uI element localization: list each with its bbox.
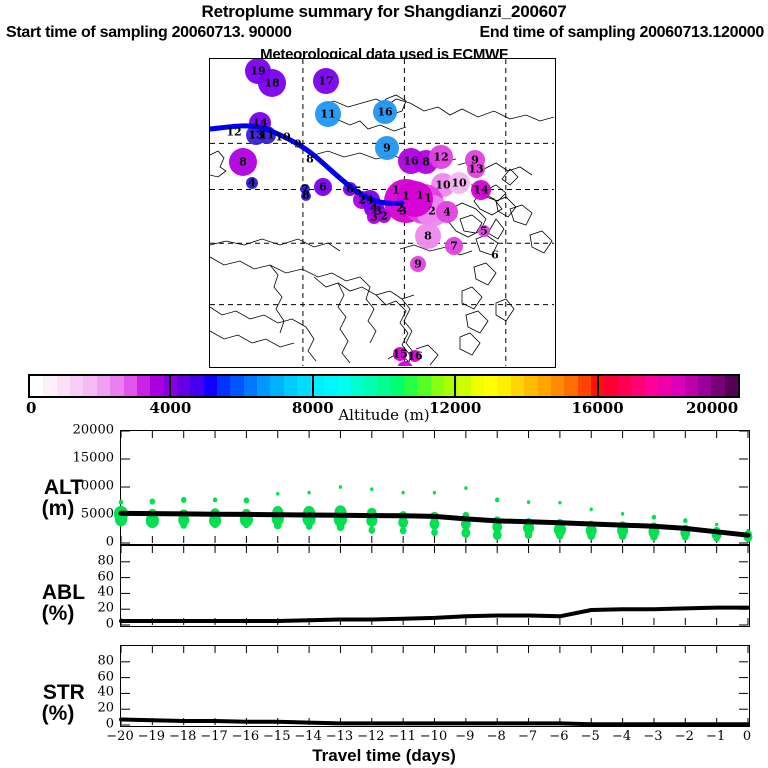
end-time-label: End time of sampling 20060713.120000 <box>480 24 764 42</box>
colorbar-segment <box>351 376 364 396</box>
alt-particle <box>337 522 345 531</box>
alt-particle <box>587 531 595 540</box>
coastline-path <box>336 119 406 131</box>
colorbar-segment <box>297 376 310 396</box>
map-altitude-bubble <box>301 191 311 201</box>
y-axis-tick-label: 20 <box>58 701 114 716</box>
coastline-path <box>210 151 226 177</box>
coastline-path <box>466 311 488 333</box>
alt-particle <box>652 515 656 520</box>
colorbar-segment <box>30 376 43 396</box>
colorbar-divider <box>312 374 314 398</box>
alt-particle <box>715 523 718 527</box>
y-axis-tick-label: 60 <box>58 669 114 684</box>
coastline-path <box>510 205 532 225</box>
map-altitude-bubble <box>397 361 413 366</box>
map-altitude-bubble <box>375 136 399 160</box>
alt-particle <box>181 497 187 503</box>
x-axis-tick-label: −13 <box>326 729 353 744</box>
map-altitude-bubble <box>246 177 258 189</box>
alt-particle <box>556 531 564 540</box>
colorbar-segment <box>671 376 684 396</box>
colorbar-segment <box>150 376 163 396</box>
x-axis-tick-label: −4 <box>612 729 631 744</box>
alt-particle <box>180 521 187 528</box>
colorbar-segment <box>364 376 377 396</box>
coastline-path <box>474 263 496 285</box>
colorbar-segment <box>645 376 658 396</box>
colorbar-divider <box>454 374 456 398</box>
alt-particle <box>276 492 279 496</box>
colorbar-segment <box>284 376 297 396</box>
x-axis-tick-label: −5 <box>581 729 600 744</box>
coastline-path <box>210 331 294 347</box>
panel-abl[interactable] <box>120 545 750 627</box>
coastline-path <box>502 169 518 185</box>
alt-particle <box>525 530 533 539</box>
panel-str[interactable] <box>120 645 750 727</box>
x-axis-tick-label: −6 <box>549 729 568 744</box>
coastline-path <box>530 231 552 253</box>
coastline-path <box>322 99 554 121</box>
start-time-label: Start time of sampling 20060713. 90000 <box>6 24 292 42</box>
colorbar-segment <box>43 376 56 396</box>
x-axis-tick-label: −18 <box>169 729 196 744</box>
y-axis-tick-label: 80 <box>58 553 114 568</box>
alt-particle <box>402 491 405 495</box>
map-altitude-bubble <box>315 101 341 127</box>
alt-particle <box>150 498 156 504</box>
y-axis-tick-label: 20 <box>58 601 114 616</box>
alt-particle <box>339 485 342 489</box>
colorbar-segment <box>337 376 350 396</box>
x-axis-tick-label: −1 <box>706 729 725 744</box>
colorbar-segment <box>190 376 203 396</box>
alt-particle <box>370 487 373 491</box>
x-axis-tick-label: −7 <box>518 729 537 744</box>
colorbar-segment <box>458 376 471 396</box>
x-axis-title: Travel time (days) <box>0 746 768 766</box>
coastline-path <box>476 235 498 255</box>
coastline-path <box>462 287 482 309</box>
alt-particle <box>431 529 438 536</box>
alt-particle <box>306 522 313 529</box>
colorbar-segment <box>498 376 511 396</box>
colorbar-segment <box>711 376 724 396</box>
colorbar-segment <box>564 376 577 396</box>
x-axis-tick-label: −15 <box>263 729 290 744</box>
map-altitude-bubble <box>314 178 332 196</box>
alt-particle <box>621 512 624 516</box>
colorbar-segment <box>725 376 738 396</box>
y-axis-tick-label: 40 <box>58 585 114 600</box>
colorbar-segment <box>631 376 644 396</box>
coastline-path <box>460 333 480 355</box>
colorbar-segment <box>110 376 123 396</box>
colorbar-segment <box>511 376 524 396</box>
colorbar-segment <box>324 376 337 396</box>
alt-particle <box>212 521 219 528</box>
map-altitude-bubble <box>313 68 339 94</box>
x-axis-tick-label: −19 <box>138 729 165 744</box>
x-axis-tick-label: −17 <box>200 729 227 744</box>
alt-particle <box>558 501 561 505</box>
coastline-path <box>210 257 360 281</box>
coastline-path <box>314 277 414 299</box>
coastline-path <box>210 307 306 327</box>
colorbar-segment <box>685 376 698 396</box>
y-axis-tick-label: 15000 <box>58 451 114 466</box>
x-axis-tick-label: −10 <box>420 729 447 744</box>
colorbar-segment <box>124 376 137 396</box>
alt-particle <box>464 486 467 490</box>
coastline-path <box>496 299 514 321</box>
alt-plot-canvas <box>121 431 748 543</box>
coastline-path <box>306 327 316 361</box>
colorbar-segment <box>578 376 591 396</box>
map-altitude-bubble <box>467 160 485 178</box>
alt-particle <box>619 531 627 540</box>
map-altitude-bubble <box>373 100 397 124</box>
alt-particle <box>369 526 376 533</box>
colorbar-segment <box>618 376 631 396</box>
alt-particle <box>461 528 470 538</box>
colorbar-segment <box>177 376 190 396</box>
y-axis-tick-label: 40 <box>58 685 114 700</box>
colorbar-divider <box>169 374 171 398</box>
x-axis-tick-label: −16 <box>232 729 259 744</box>
alt-particle <box>683 518 687 523</box>
colorbar-segment <box>257 376 270 396</box>
alt-particle <box>430 518 440 529</box>
y-axis-tick-label: 10000 <box>58 479 114 494</box>
map-altitude-bubble <box>229 148 257 176</box>
map-bubble-layer <box>229 59 491 366</box>
colorbar-axis-title: Altitude (m) <box>0 406 768 424</box>
colorbar-segment <box>484 376 497 396</box>
alt-particle <box>274 521 282 530</box>
colorbar-segment <box>377 376 390 396</box>
y-axis-tick-label: 5000 <box>58 507 114 522</box>
colorbar-segment <box>97 376 110 396</box>
x-axis-tick-label: −3 <box>643 729 662 744</box>
x-axis-tick-label: −12 <box>357 729 384 744</box>
alt-particle <box>149 520 157 529</box>
y-axis-tick-label: 0 <box>58 617 114 632</box>
coastline-path <box>488 219 504 239</box>
map-altitude-bubble <box>445 237 463 255</box>
map-altitude-bubble <box>410 256 426 272</box>
alt-particle <box>682 533 689 540</box>
coastline-path <box>338 283 350 363</box>
x-axis-tick-label: −2 <box>675 729 694 744</box>
alt-particle <box>650 532 658 541</box>
alt-particle <box>243 521 250 528</box>
alt-particle <box>400 527 407 534</box>
map-canvas <box>210 59 554 366</box>
x-axis-tick-label: −9 <box>455 729 474 744</box>
colorbar-segment <box>70 376 83 396</box>
abl-plot-canvas <box>121 546 748 625</box>
colorbar-segment <box>270 376 283 396</box>
y-axis-tick-label: 20000 <box>58 423 114 438</box>
alt-particle <box>307 491 310 495</box>
colorbar-segment <box>604 376 617 396</box>
alt-particle <box>119 500 123 505</box>
alt-particle <box>527 500 530 504</box>
x-axis-tick-label: −20 <box>106 729 133 744</box>
colorbar-segment <box>57 376 70 396</box>
x-axis-tick-label: −8 <box>487 729 506 744</box>
colorbar-segment <box>524 376 537 396</box>
alt-particle <box>213 497 217 502</box>
altitude-colorbar[interactable] <box>28 374 740 398</box>
alt-particle <box>118 519 125 526</box>
coastline-path <box>210 239 340 251</box>
colorbar-segment <box>471 376 484 396</box>
colorbar-segment <box>551 376 564 396</box>
alt-particle <box>713 534 720 541</box>
x-axis-tick-label: −11 <box>388 729 415 744</box>
map-altitude-bubble <box>471 180 491 200</box>
map-altitude-bubble <box>448 172 470 194</box>
x-axis-tick-label: 0 <box>743 729 751 744</box>
alt-particle <box>244 497 250 503</box>
map-altitude-bubble <box>478 225 490 237</box>
map-altitude-bubble <box>397 181 433 217</box>
map-altitude-bubble <box>409 350 421 362</box>
colorbar-segment <box>538 376 551 396</box>
retroplume-map[interactable]: 1918171116914121311109884678168129131410… <box>209 58 556 368</box>
colorbar-divider <box>597 374 599 398</box>
colorbar-segment <box>391 376 404 396</box>
map-altitude-bubble <box>415 223 441 249</box>
map-altitude-bubble <box>429 145 453 169</box>
map-altitude-bubble <box>393 347 407 361</box>
str-plot-canvas <box>121 646 748 725</box>
map-altitude-bubble <box>258 69 286 97</box>
colorbar-segment <box>83 376 96 396</box>
alt-particle <box>433 491 436 495</box>
colorbar-segment <box>658 376 671 396</box>
colorbar-segment <box>217 376 230 396</box>
alt-particle <box>495 497 499 502</box>
alt-particle <box>590 508 593 512</box>
colorbar-segment <box>137 376 150 396</box>
x-axis-tick-label: −14 <box>294 729 321 744</box>
colorbar-segment <box>431 376 444 396</box>
alt-particle <box>493 530 502 540</box>
page-title: Retroplume summary for Shangdianzi_20060… <box>0 2 768 22</box>
colorbar-segment <box>698 376 711 396</box>
y-axis-tick-label: 80 <box>58 653 114 668</box>
map-altitude-bubble <box>436 201 458 223</box>
colorbar-segment <box>204 376 217 396</box>
colorbar-segment <box>417 376 430 396</box>
panel-altitude[interactable] <box>120 430 750 545</box>
colorbar-segment <box>230 376 243 396</box>
y-axis-tick-label: 0 <box>58 535 114 550</box>
colorbar-segment <box>404 376 417 396</box>
y-axis-tick-label: 60 <box>58 569 114 584</box>
colorbar-segment <box>244 376 257 396</box>
alt-particle <box>398 517 408 528</box>
